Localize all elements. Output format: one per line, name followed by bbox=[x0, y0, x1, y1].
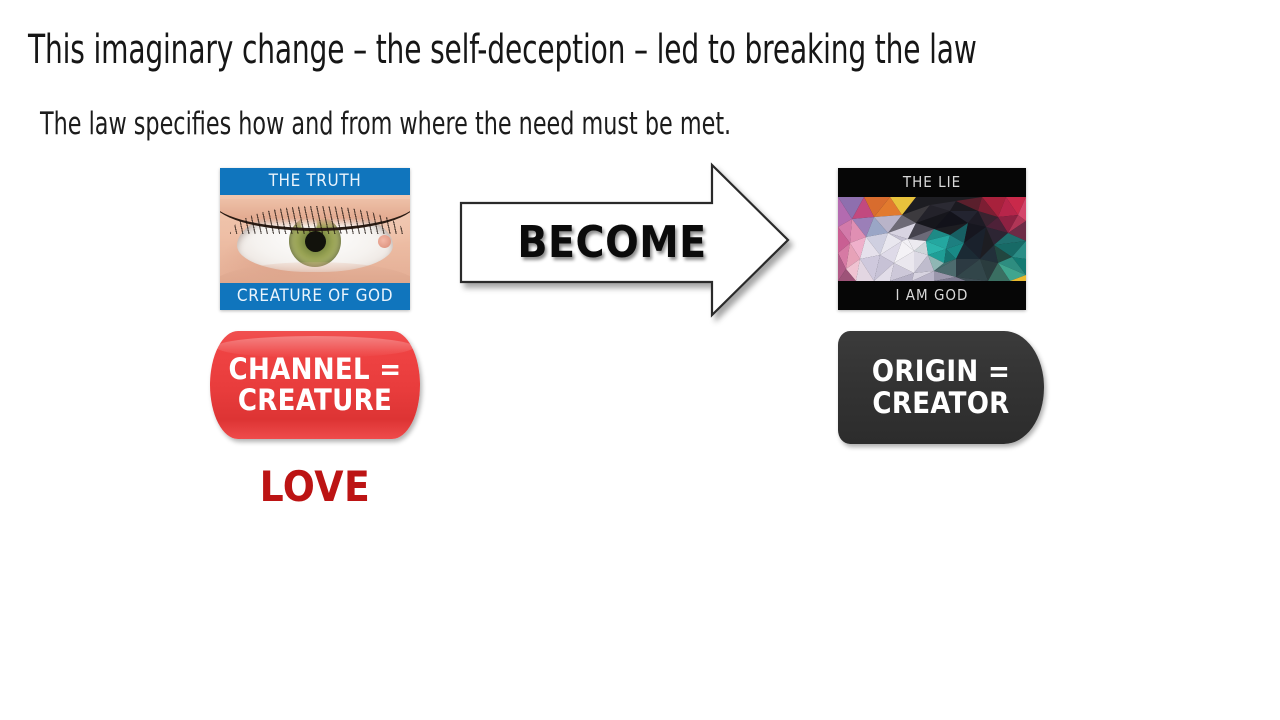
low-poly-eye-icon bbox=[838, 197, 1026, 281]
channel-pill-line-2: CREATURE bbox=[238, 385, 392, 416]
channel-pill-line-1: CHANNEL = bbox=[229, 354, 402, 385]
origin-pill-line-1: ORIGIN = bbox=[872, 356, 1010, 387]
eye-lower-lid bbox=[220, 262, 410, 283]
become-label: BECOME bbox=[452, 156, 724, 328]
human-eye-photo-icon bbox=[220, 195, 410, 283]
origin-pill-line-2: CREATOR bbox=[872, 388, 1009, 419]
lie-card-top-banner: THE LIE bbox=[838, 168, 1026, 197]
channel-creature-pill: CHANNEL = CREATURE bbox=[210, 331, 420, 439]
page-title: This imaginary change – the self-decepti… bbox=[28, 26, 972, 74]
lie-card: THE LIE bbox=[838, 168, 1026, 310]
truth-card: THE TRUTH CREATURE OF GOD bbox=[220, 168, 410, 310]
love-label: LOVE bbox=[210, 462, 420, 511]
origin-creator-pill: ORIGIN = CREATOR bbox=[838, 331, 1044, 444]
truth-card-bottom-banner: CREATURE OF GOD bbox=[220, 283, 410, 310]
truth-card-top-banner: THE TRUTH bbox=[220, 168, 410, 195]
page-subtitle: The law specifies how and from where the… bbox=[40, 104, 936, 144]
lie-card-bottom-banner: I AM GOD bbox=[838, 281, 1026, 310]
slide-canvas: This imaginary change – the self-decepti… bbox=[0, 0, 1280, 720]
